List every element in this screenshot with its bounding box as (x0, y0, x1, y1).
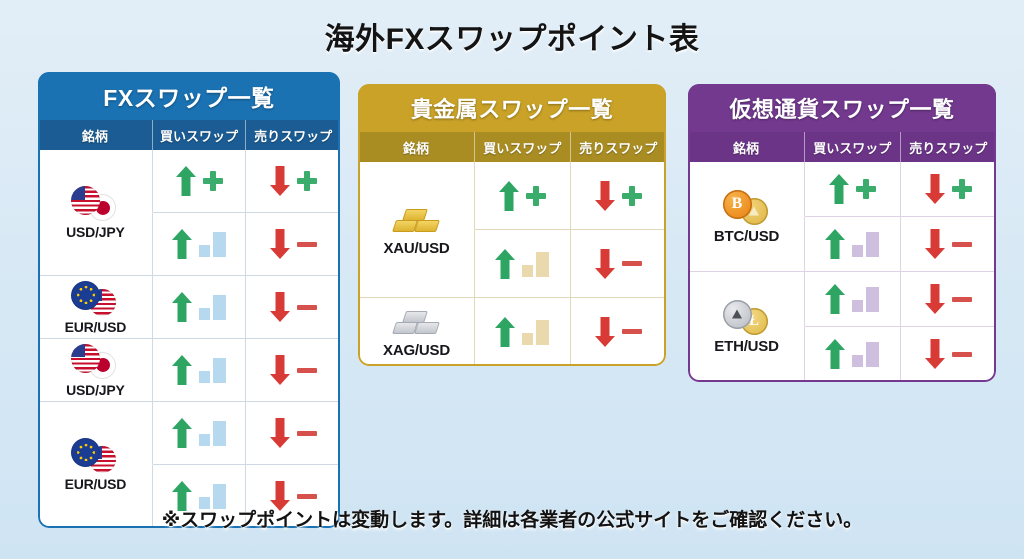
arrow-down-icon (270, 229, 290, 259)
arrow-down-icon (595, 317, 615, 347)
minus-sign-icon (297, 368, 317, 373)
metal-swap-card: 貴金属スワップ一覧 銘柄 買いスワップ 売りスワップ XAU/USDXAG/US… (358, 84, 666, 366)
swap-indicator (246, 213, 340, 275)
buy-swap-cell (153, 213, 247, 276)
symbol-cell: XAG/USD (358, 298, 475, 366)
sell-swap-cell (246, 150, 340, 213)
silver-bars-icon (392, 306, 442, 340)
swap-indicator (153, 402, 246, 464)
minus-sign-icon (952, 297, 972, 302)
swap-indicator (571, 298, 666, 365)
arrow-down-icon (270, 292, 290, 322)
crypto-card-title: 仮想通貨スワップ一覧 (688, 84, 996, 132)
symbol-label: XAG/USD (383, 342, 450, 359)
sell-swap-cell (571, 162, 666, 230)
table-grid: BTC/USDETH/USD (688, 162, 996, 382)
table-grid: XAU/USDXAG/USD (358, 162, 666, 366)
swap-indicator (246, 276, 340, 338)
bar-chart-icon (522, 251, 550, 277)
plus-sign-icon (622, 186, 642, 206)
symbol-pair: EUR/USD (65, 277, 127, 339)
arrow-up-icon (172, 418, 192, 448)
crypto-column-header-row: 銘柄 買いスワップ 売りスワップ (688, 132, 996, 162)
bar-chart-icon (852, 231, 880, 257)
crypto-swap-card: 仮想通貨スワップ一覧 銘柄 買いスワップ 売りスワップ BTC/USDETH/U… (688, 84, 996, 382)
metal-card-title: 貴金属スワップ一覧 (358, 84, 666, 132)
swap-indicator (246, 150, 340, 212)
swap-indicator (901, 272, 996, 326)
sell-swap-cell (246, 213, 340, 276)
column-header-sell-swap: 売りスワップ (571, 132, 666, 162)
swap-tables-container: FXスワップ一覧 銘柄 買いスワップ 売りスワップ USD/JPYEUR/USD… (0, 72, 1024, 492)
minus-sign-icon (952, 352, 972, 357)
minus-sign-icon (297, 431, 317, 436)
symbol-label: BTC/USD (714, 228, 779, 245)
flag-pair-usd-jpy-icon (69, 344, 121, 380)
flag-pair-usd-jpy-icon (69, 186, 121, 222)
column-header-symbol: 銘柄 (688, 132, 805, 162)
arrow-up-icon (172, 355, 192, 385)
plus-sign-icon (526, 186, 546, 206)
column-header-symbol: 銘柄 (38, 120, 153, 150)
buy-swap-cell (805, 272, 900, 327)
column-header-buy-swap: 買いスワップ (153, 120, 247, 150)
sell-swap-cell (901, 327, 996, 382)
page-title: 海外FXスワップポイント表 (0, 14, 1024, 58)
buy-swap-cell (475, 162, 570, 230)
plus-sign-icon (297, 171, 317, 191)
buy-swap-cell (475, 298, 570, 366)
bar-chart-icon (199, 231, 227, 257)
symbol-pair: EUR/USD (65, 434, 127, 496)
arrow-up-icon (495, 317, 515, 347)
symbol-cell: ETH/USD (688, 272, 805, 382)
sell-swap-cell (246, 339, 340, 402)
arrow-down-icon (595, 181, 615, 211)
bar-chart-icon (199, 294, 227, 320)
arrow-up-icon (176, 166, 196, 196)
fx-table-body: USD/JPYEUR/USDUSD/JPYEUR/USD (38, 150, 340, 528)
arrow-down-icon (925, 174, 945, 204)
swap-indicator (153, 339, 246, 401)
symbol-label: EUR/USD (65, 476, 127, 492)
arrow-up-icon (495, 249, 515, 279)
sell-swap-cell (246, 402, 340, 465)
swap-indicator (901, 327, 996, 381)
symbol-pair: XAU/USD (383, 200, 449, 261)
arrow-down-icon (925, 229, 945, 259)
symbol-pair: USD/JPY (66, 182, 125, 244)
buy-swap-cell (805, 162, 900, 217)
swap-indicator (153, 276, 246, 338)
plus-sign-icon (856, 179, 876, 199)
sell-swap-cell (901, 162, 996, 217)
symbol-cell: USD/JPY (38, 339, 153, 402)
arrow-up-icon (172, 292, 192, 322)
plus-sign-icon (952, 179, 972, 199)
swap-indicator (571, 230, 666, 297)
swap-indicator (805, 327, 899, 381)
swap-indicator (805, 217, 899, 271)
symbol-label: USD/JPY (66, 224, 125, 240)
flag-us-icon (71, 344, 100, 373)
buy-swap-cell (153, 150, 247, 213)
swap-indicator (901, 162, 996, 216)
swap-indicator (475, 162, 569, 229)
buy-swap-cell (805, 217, 900, 272)
flag-eu-icon (71, 281, 100, 310)
column-header-buy-swap: 買いスワップ (805, 132, 900, 162)
column-header-sell-swap: 売りスワップ (901, 132, 996, 162)
disclaimer-note: ※スワップポイントは変動します。詳細は各業者の公式サイトをご確認ください。 (0, 505, 1024, 532)
arrow-up-icon (499, 181, 519, 211)
symbol-cell: EUR/USD (38, 276, 153, 339)
buy-swap-cell (153, 276, 247, 339)
symbol-pair: BTC/USD (714, 186, 779, 249)
column-header-symbol: 銘柄 (358, 132, 475, 162)
buy-swap-cell (153, 339, 247, 402)
symbol-pair: ETH/USD (714, 296, 778, 359)
symbol-cell: USD/JPY (38, 150, 153, 276)
bar-chart-icon (199, 420, 227, 446)
sell-swap-cell (571, 230, 666, 298)
swap-indicator (475, 298, 569, 365)
bitcoin-coin-icon (723, 190, 752, 219)
sell-swap-cell (901, 217, 996, 272)
arrow-down-icon (270, 355, 290, 385)
buy-swap-cell (805, 327, 900, 382)
swap-indicator (901, 217, 996, 271)
swap-indicator (246, 402, 340, 464)
arrow-up-icon (825, 229, 845, 259)
crypto-table-body: BTC/USDETH/USD (688, 162, 996, 382)
arrow-down-icon (925, 339, 945, 369)
bar-chart-icon (852, 341, 880, 367)
arrow-down-icon (270, 418, 290, 448)
arrow-up-icon (829, 174, 849, 204)
swap-indicator (571, 162, 666, 229)
plus-sign-icon (203, 171, 223, 191)
fx-swap-card: FXスワップ一覧 銘柄 買いスワップ 売りスワップ USD/JPYEUR/USD… (38, 72, 340, 528)
sell-swap-cell (571, 298, 666, 366)
swap-indicator (475, 230, 569, 297)
metal-column-header-row: 銘柄 買いスワップ 売りスワップ (358, 132, 666, 162)
symbol-pair: USD/JPY (66, 340, 125, 402)
flag-pair-eur-usd-icon (69, 438, 121, 474)
arrow-down-icon (925, 284, 945, 314)
minus-sign-icon (297, 242, 317, 247)
fx-column-header-row: 銘柄 買いスワップ 売りスワップ (38, 120, 340, 150)
flag-pair-eur-usd-icon (69, 281, 121, 317)
symbol-label: ETH/USD (714, 338, 778, 355)
bar-chart-icon (852, 286, 880, 312)
fx-card-title: FXスワップ一覧 (38, 72, 340, 120)
minus-sign-icon (622, 329, 642, 334)
swap-indicator (246, 339, 340, 401)
minus-sign-icon (297, 494, 317, 499)
table-grid: USD/JPYEUR/USDUSD/JPYEUR/USD (38, 150, 340, 528)
minus-sign-icon (622, 261, 642, 266)
symbol-pair: XAG/USD (383, 302, 450, 363)
symbol-label: EUR/USD (65, 319, 127, 335)
sell-swap-cell (246, 276, 340, 339)
bar-chart-icon (199, 357, 227, 383)
ethereum-coin-icon (723, 300, 752, 329)
bar-chart-icon (522, 319, 550, 345)
minus-sign-icon (297, 305, 317, 310)
arrow-down-icon (595, 249, 615, 279)
coin-pair-eth-icon (721, 300, 773, 336)
buy-swap-cell (153, 402, 247, 465)
swap-indicator (153, 213, 246, 275)
symbol-label: XAU/USD (383, 240, 449, 257)
swap-indicator (805, 272, 899, 326)
arrow-up-icon (825, 339, 845, 369)
column-header-buy-swap: 買いスワップ (475, 132, 570, 162)
swap-indicator (153, 150, 246, 212)
coin-pair-btc-icon (721, 190, 773, 226)
metal-table-body: XAU/USDXAG/USD (358, 162, 666, 366)
buy-swap-cell (475, 230, 570, 298)
minus-sign-icon (952, 242, 972, 247)
arrow-down-icon (270, 166, 290, 196)
arrow-up-icon (825, 284, 845, 314)
column-header-sell-swap: 売りスワップ (246, 120, 340, 150)
symbol-cell: XAU/USD (358, 162, 475, 298)
arrow-up-icon (172, 229, 192, 259)
swap-indicator (805, 162, 899, 216)
gold-bars-icon (392, 204, 442, 238)
symbol-cell: BTC/USD (688, 162, 805, 272)
symbol-label: USD/JPY (66, 382, 125, 398)
sell-swap-cell (901, 272, 996, 327)
